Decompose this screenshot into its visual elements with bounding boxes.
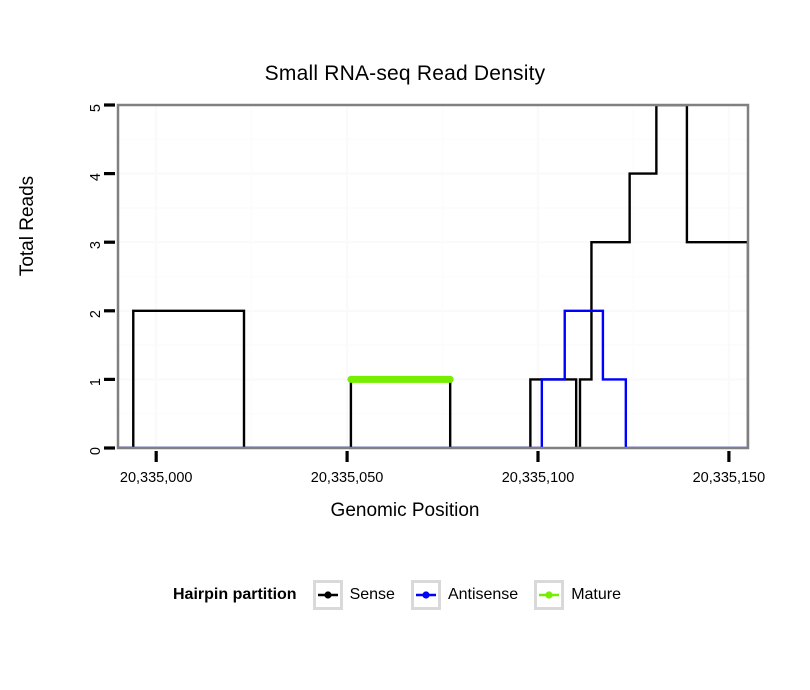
y-tick-label: 5 [88, 104, 104, 134]
legend-title: Hairpin partition [173, 586, 297, 604]
y-tick-label: 2 [88, 310, 104, 340]
legend-item-antisense[interactable]: Antisense [411, 580, 528, 610]
legend: Hairpin partition SenseAntisenseMature [0, 580, 810, 610]
x-tick-label: 20,335,000 [96, 470, 216, 486]
legend-key-icon [313, 580, 343, 610]
legend-item-label: Sense [350, 586, 395, 604]
legend-item-label: Mature [571, 586, 621, 604]
y-tick-label: 4 [88, 173, 104, 203]
legend-key-icon [411, 580, 441, 610]
y-tick-label: 3 [88, 241, 104, 271]
x-axis-label: Genomic Position [0, 500, 810, 522]
legend-item-mature[interactable]: Mature [534, 580, 631, 610]
x-tick-label: 20,335,100 [478, 470, 598, 486]
legend-key-icon [534, 580, 564, 610]
x-tick-label: 20,335,150 [669, 470, 789, 486]
x-tick-label: 20,335,050 [287, 470, 407, 486]
y-tick-label: 1 [88, 378, 104, 408]
legend-item-sense[interactable]: Sense [313, 580, 405, 610]
y-tick-label: 0 [88, 447, 104, 477]
legend-item-label: Antisense [448, 586, 518, 604]
figure-canvas: Small RNA-seq Read Density Total Reads 2… [0, 0, 810, 690]
